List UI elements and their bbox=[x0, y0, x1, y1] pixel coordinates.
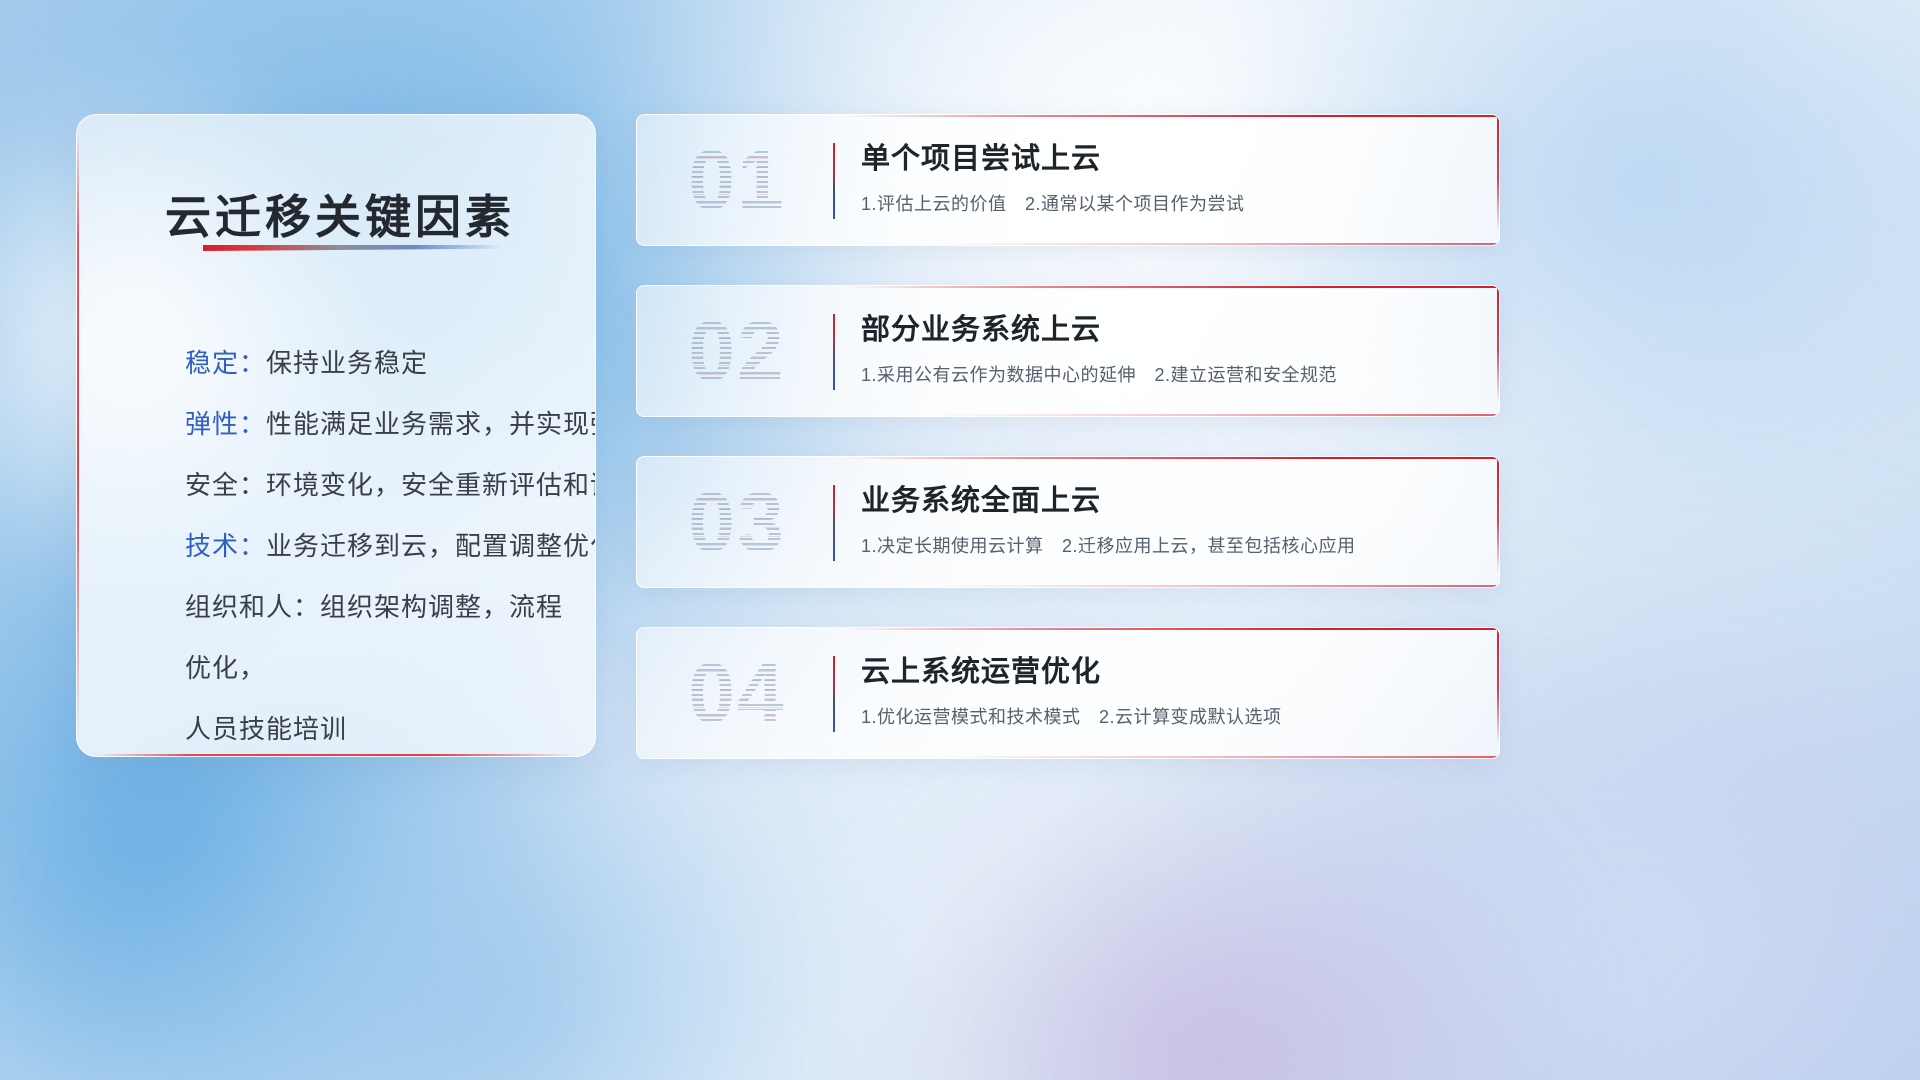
card-top-accent-line bbox=[844, 628, 1499, 630]
card-right-accent-line bbox=[1497, 457, 1499, 573]
card-top-accent-line bbox=[844, 286, 1499, 288]
card-top-accent-line bbox=[844, 457, 1499, 459]
factor-text-organization-line2: 人员技能培训 bbox=[185, 714, 347, 744]
factor-text-elasticity: 性能满足业务需求，并实现弹性 bbox=[266, 409, 596, 439]
factor-row-organization: 组织和人：组织架构调整，流程优化， 人员技能培训 bbox=[185, 577, 565, 757]
step-body-03: 业务系统全面上云 1.决定长期使用云计算 2.迁移应用上云，甚至包括核心应用 bbox=[861, 479, 1459, 559]
step-subtitle-03: 1.决定长期使用云计算 2.迁移应用上云，甚至包括核心应用 bbox=[861, 533, 1459, 559]
factor-text-stability: 保持业务稳定 bbox=[266, 348, 428, 378]
card-bottom-accent-line bbox=[930, 414, 1499, 416]
step-card-04[interactable]: 04 04 云上系统运营优化 1.优化运营模式和技术模式 2.云计算变成默认选项 bbox=[636, 627, 1500, 759]
step-subtitle-01: 1.评估上云的价值 2.通常以某个项目作为尝试 bbox=[861, 191, 1459, 217]
card-right-accent-line bbox=[1497, 286, 1499, 402]
factor-label-technology: 技术： bbox=[185, 531, 266, 561]
card-bottom-accent-line bbox=[930, 756, 1499, 758]
step-title-02: 部分业务系统上云 bbox=[861, 308, 1459, 352]
step-body-02: 部分业务系统上云 1.采用公有云作为数据中心的延伸 2.建立运营和安全规范 bbox=[861, 308, 1459, 388]
step-title-03: 业务系统全面上云 bbox=[861, 479, 1459, 523]
step-number-01: 01 bbox=[657, 131, 817, 229]
card-right-accent-line bbox=[1497, 628, 1499, 744]
factor-row-elasticity: 弹性：性能满足业务需求，并实现弹性 bbox=[185, 394, 565, 455]
card-bottom-accent-line bbox=[930, 243, 1499, 245]
step-subtitle-04: 1.优化运营模式和技术模式 2.云计算变成默认选项 bbox=[861, 704, 1459, 730]
card-top-accent-line bbox=[844, 115, 1499, 117]
key-factors-panel: 云迁移关键因素 稳定：保持业务稳定 弹性：性能满足业务需求，并实现弹性 安全：环… bbox=[76, 114, 596, 757]
factor-label-security: 安全： bbox=[185, 470, 266, 500]
card-right-accent-line bbox=[1497, 115, 1499, 231]
step-body-04: 云上系统运营优化 1.优化运营模式和技术模式 2.云计算变成默认选项 bbox=[861, 650, 1459, 730]
step-card-03[interactable]: 03 03 业务系统全面上云 1.决定长期使用云计算 2.迁移应用上云，甚至包括… bbox=[636, 456, 1500, 588]
step-number-04: 04 bbox=[657, 644, 817, 742]
title-underline-gradient bbox=[203, 245, 503, 251]
step-card-02[interactable]: 02 02 部分业务系统上云 1.采用公有云作为数据中心的延伸 2.建立运营和安… bbox=[636, 285, 1500, 417]
step-title-04: 云上系统运营优化 bbox=[861, 650, 1459, 694]
factor-list: 稳定：保持业务稳定 弹性：性能满足业务需求，并实现弹性 安全：环境变化，安全重新… bbox=[185, 333, 565, 757]
factor-label-stability: 稳定： bbox=[185, 348, 266, 378]
factor-text-security: 环境变化，安全重新评估和评审 bbox=[266, 470, 596, 500]
factor-row-technology: 技术：业务迁移到云，配置调整优化 bbox=[185, 516, 565, 577]
factor-row-stability: 稳定：保持业务稳定 bbox=[185, 333, 565, 394]
step-title-01: 单个项目尝试上云 bbox=[861, 137, 1459, 181]
step-subtitle-02: 1.采用公有云作为数据中心的延伸 2.建立运营和安全规范 bbox=[861, 362, 1459, 388]
step-divider-line bbox=[833, 656, 835, 732]
panel-left-accent-line bbox=[77, 131, 79, 740]
steps-list: 01 01 单个项目尝试上云 1.评估上云的价值 2.通常以某个项目作为尝试 0… bbox=[636, 114, 1500, 798]
step-number-03: 03 bbox=[657, 473, 817, 571]
step-body-01: 单个项目尝试上云 1.评估上云的价值 2.通常以某个项目作为尝试 bbox=[861, 137, 1459, 217]
page-title: 云迁移关键因素 bbox=[165, 181, 515, 247]
step-divider-line bbox=[833, 485, 835, 561]
card-bottom-accent-line bbox=[930, 585, 1499, 587]
step-number-02: 02 bbox=[657, 302, 817, 400]
step-card-01[interactable]: 01 01 单个项目尝试上云 1.评估上云的价值 2.通常以某个项目作为尝试 bbox=[636, 114, 1500, 246]
factor-label-elasticity: 弹性： bbox=[185, 409, 266, 439]
step-divider-line bbox=[833, 314, 835, 390]
step-divider-line bbox=[833, 143, 835, 219]
factor-label-organization: 组织和人： bbox=[185, 592, 320, 622]
factor-row-security: 安全：环境变化，安全重新评估和评审 bbox=[185, 455, 565, 516]
factor-text-technology: 业务迁移到云，配置调整优化 bbox=[266, 531, 596, 561]
